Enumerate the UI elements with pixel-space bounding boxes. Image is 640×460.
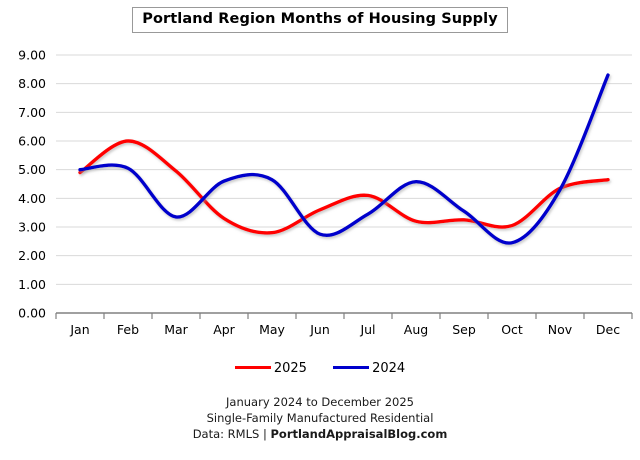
legend-label-2025: 2025 <box>274 361 307 376</box>
legend-label-2024: 2024 <box>372 361 405 376</box>
y-axis-tick-label: 5.00 <box>18 162 46 177</box>
footer-date-range: January 2024 to December 2025 <box>0 394 640 410</box>
chart-legend: 2025 2024 <box>0 361 640 376</box>
y-axis-tick-label: 3.00 <box>18 220 46 235</box>
line-chart-plot: 0.001.002.003.004.005.006.007.008.009.00… <box>0 0 640 460</box>
legend-swatch-2024 <box>333 366 369 370</box>
x-axis-tick-label: Jan <box>69 322 89 337</box>
x-axis-tick-label: Feb <box>117 322 139 337</box>
x-axis-tick-label: Aug <box>404 322 428 337</box>
data-series-group <box>80 75 608 243</box>
y-axis-tick-label: 2.00 <box>18 248 46 263</box>
x-axis-tick-label: Mar <box>164 322 188 337</box>
footer-source-prefix: Data: RMLS | <box>193 427 271 441</box>
x-axis-tick-label: Jul <box>359 322 375 337</box>
y-axis-tick-label: 8.00 <box>18 76 46 91</box>
y-axis-tick-label: 6.00 <box>18 134 46 149</box>
x-axis-tick-label: Sep <box>452 322 476 337</box>
legend-swatch-2025 <box>235 366 271 370</box>
chart-container: Portland Region Months of Housing Supply… <box>0 0 640 460</box>
legend-item-2024: 2024 <box>333 361 405 376</box>
x-axis-tick-label: Dec <box>596 322 620 337</box>
x-axis-tick-label: May <box>259 322 285 337</box>
series-line-2025 <box>80 141 608 233</box>
y-axis-tick-label: 4.00 <box>18 191 46 206</box>
x-axis-line <box>56 313 632 319</box>
x-axis-tick-label: Apr <box>213 322 235 337</box>
x-axis-tick-labels: JanFebMarAprMayJunJulAugSepOctNovDec <box>69 322 620 337</box>
x-axis-tick-label: Jun <box>309 322 330 337</box>
x-axis-tick-label: Oct <box>501 322 523 337</box>
footer-property-type: Single-Family Manufactured Residential <box>0 410 640 426</box>
x-axis-tick-label: Nov <box>548 322 573 337</box>
gridlines-group <box>56 55 632 284</box>
y-axis-tick-label: 7.00 <box>18 105 46 120</box>
y-axis-tick-label: 9.00 <box>18 48 46 63</box>
y-axis-tick-label: 1.00 <box>18 277 46 292</box>
y-axis-tick-label: 0.00 <box>18 306 46 321</box>
y-axis-tick-labels: 0.001.002.003.004.005.006.007.008.009.00 <box>18 48 46 321</box>
chart-footer: January 2024 to December 2025 Single-Fam… <box>0 394 640 442</box>
footer-source: Data: RMLS | PortlandAppraisalBlog.com <box>0 426 640 442</box>
legend-item-2025: 2025 <box>235 361 307 376</box>
footer-source-site: PortlandAppraisalBlog.com <box>270 427 447 441</box>
